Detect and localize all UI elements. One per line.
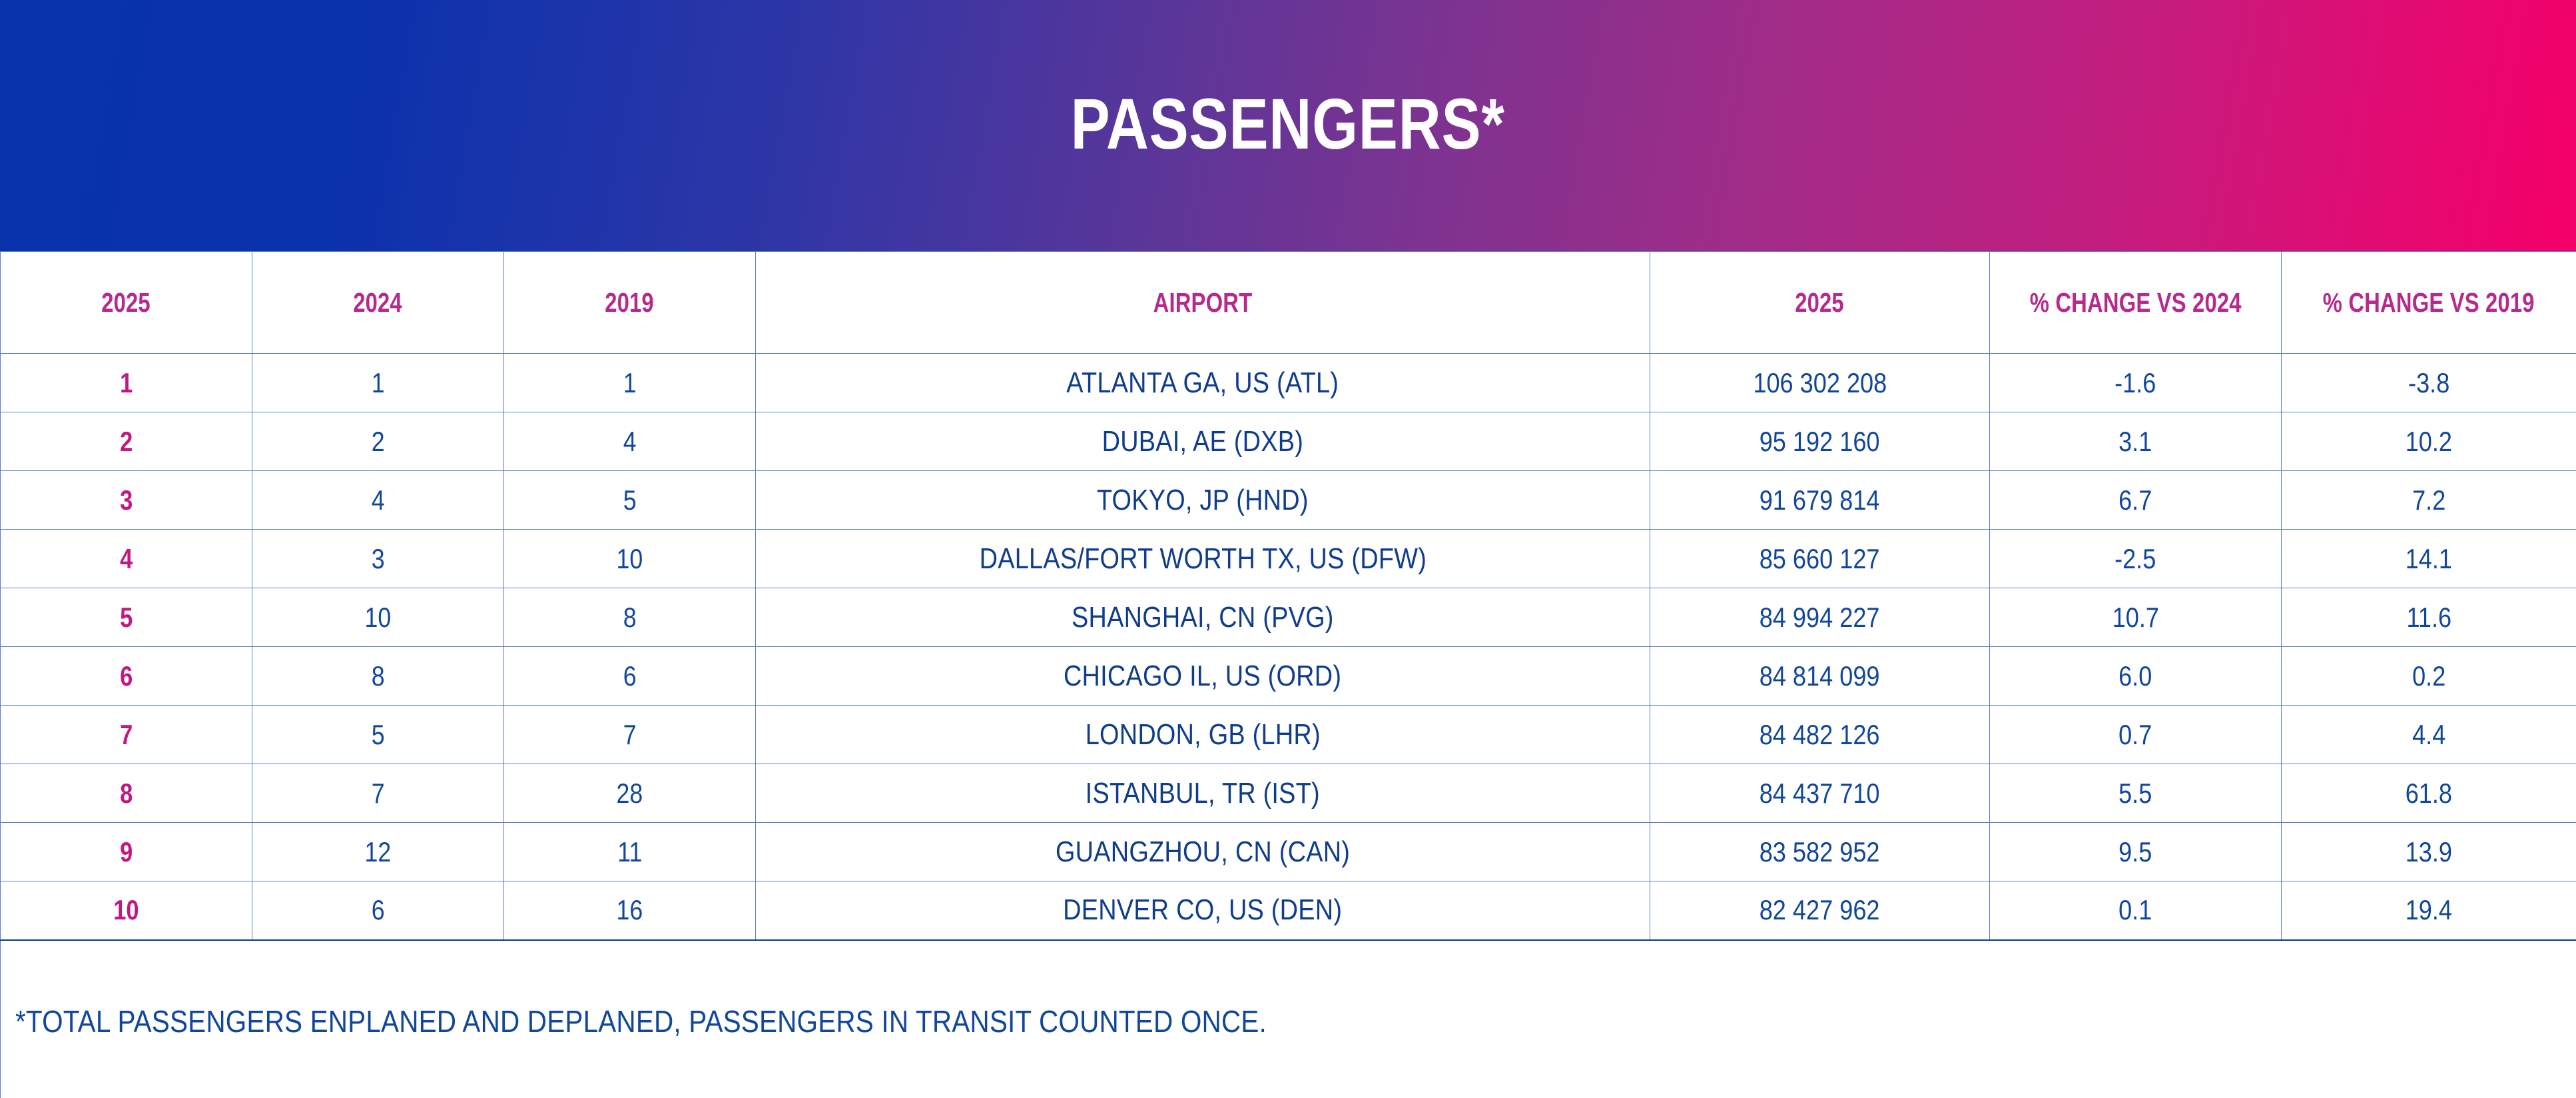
cell-rank-2019: 5	[504, 471, 756, 530]
cell-airport: LONDON, GB (LHR)	[756, 706, 1650, 764]
cell-rank-2025: 6	[1, 647, 252, 706]
cell-airport: ATLANTA GA, US (ATL)	[756, 354, 1650, 412]
footnote-cell: *TOTAL PASSENGERS ENPLANED AND DEPLANED,…	[1, 940, 2576, 1098]
cell-passengers: 84 814 099	[1650, 647, 1990, 706]
footnote-text: *TOTAL PASSENGERS ENPLANED AND DEPLANED,…	[15, 1003, 1267, 1039]
table-row: 3 4 5 TOKYO, JP (HND) 91 679 814 6.7 7.2	[1, 471, 2576, 530]
cell-airport: DUBAI, AE (DXB)	[756, 412, 1650, 471]
cell-airport: DENVER CO, US (DEN)	[756, 881, 1650, 940]
table-row: 2 2 4 DUBAI, AE (DXB) 95 192 160 3.1 10.…	[1, 412, 2576, 471]
cell-change-2024: 6.0	[1990, 647, 2282, 706]
cell-passengers: 95 192 160	[1650, 412, 1990, 471]
page-root: PASSENGERS* 2025 2024 2019 AIRPORT 2025 …	[0, 0, 2576, 1098]
cell-rank-2019: 6	[504, 647, 756, 706]
cell-change-2019: 19.4	[2282, 881, 2576, 940]
cell-airport: DALLAS/FORT WORTH TX, US (DFW)	[756, 530, 1650, 588]
cell-rank-2024: 10	[252, 588, 504, 647]
cell-rank-2019: 4	[504, 412, 756, 471]
table-header: 2025 2024 2019 AIRPORT 2025 % CHANGE VS …	[1, 252, 2576, 354]
table-row: 4 3 10 DALLAS/FORT WORTH TX, US (DFW) 85…	[1, 530, 2576, 588]
cell-passengers: 91 679 814	[1650, 471, 1990, 530]
column-header-passengers-2025: 2025	[1650, 252, 1990, 354]
cell-rank-2024: 5	[252, 706, 504, 764]
cell-rank-2019: 16	[504, 881, 756, 940]
cell-airport: ISTANBUL, TR (IST)	[756, 764, 1650, 823]
cell-passengers: 84 994 227	[1650, 588, 1990, 647]
cell-airport: SHANGHAI, CN (PVG)	[756, 588, 1650, 647]
column-header-rank-2025: 2025	[1, 252, 252, 354]
cell-rank-2025: 3	[1, 471, 252, 530]
cell-change-2019: -3.8	[2282, 354, 2576, 412]
table-row: 8 7 28 ISTANBUL, TR (IST) 84 437 710 5.5…	[1, 764, 2576, 823]
cell-rank-2025: 10	[1, 881, 252, 940]
page-title: PASSENGERS*	[1071, 88, 1505, 164]
cell-airport: TOKYO, JP (HND)	[756, 471, 1650, 530]
cell-rank-2019: 11	[504, 823, 756, 881]
cell-passengers: 106 302 208	[1650, 354, 1990, 412]
airport-ranking-table: 2025 2024 2019 AIRPORT 2025 % CHANGE VS …	[0, 251, 2576, 1098]
cell-passengers: 82 427 962	[1650, 881, 1990, 940]
cell-change-2024: 3.1	[1990, 412, 2282, 471]
cell-rank-2025: 7	[1, 706, 252, 764]
table-row: 7 5 7 LONDON, GB (LHR) 84 482 126 0.7 4.…	[1, 706, 2576, 764]
cell-airport: CHICAGO IL, US (ORD)	[756, 647, 1650, 706]
ranking-table-container: 2025 2024 2019 AIRPORT 2025 % CHANGE VS …	[0, 251, 2576, 1098]
cell-change-2019: 14.1	[2282, 530, 2576, 588]
cell-rank-2024: 6	[252, 881, 504, 940]
column-header-airport: AIRPORT	[756, 252, 1650, 354]
cell-passengers: 84 482 126	[1650, 706, 1990, 764]
cell-passengers: 84 437 710	[1650, 764, 1990, 823]
cell-rank-2019: 7	[504, 706, 756, 764]
cell-rank-2024: 3	[252, 530, 504, 588]
cell-rank-2024: 2	[252, 412, 504, 471]
cell-change-2019: 10.2	[2282, 412, 2576, 471]
footnote-row: *TOTAL PASSENGERS ENPLANED AND DEPLANED,…	[1, 940, 2576, 1098]
cell-change-2024: -2.5	[1990, 530, 2282, 588]
cell-change-2019: 0.2	[2282, 647, 2576, 706]
cell-rank-2019: 1	[504, 354, 756, 412]
cell-change-2024: 0.7	[1990, 706, 2282, 764]
cell-rank-2019: 10	[504, 530, 756, 588]
cell-passengers: 85 660 127	[1650, 530, 1990, 588]
cell-rank-2025: 2	[1, 412, 252, 471]
header-row: 2025 2024 2019 AIRPORT 2025 % CHANGE VS …	[1, 252, 2576, 354]
cell-rank-2019: 28	[504, 764, 756, 823]
cell-change-2019: 13.9	[2282, 823, 2576, 881]
cell-rank-2025: 1	[1, 354, 252, 412]
cell-change-2024: 0.1	[1990, 881, 2282, 940]
cell-passengers: 83 582 952	[1650, 823, 1990, 881]
cell-rank-2025: 8	[1, 764, 252, 823]
table-body: 1 1 1 ATLANTA GA, US (ATL) 106 302 208 -…	[1, 354, 2576, 1098]
cell-change-2024: 10.7	[1990, 588, 2282, 647]
table-row: 10 6 16 DENVER CO, US (DEN) 82 427 962 0…	[1, 881, 2576, 940]
cell-change-2024: 5.5	[1990, 764, 2282, 823]
cell-rank-2024: 4	[252, 471, 504, 530]
cell-rank-2024: 8	[252, 647, 504, 706]
column-header-rank-2024: 2024	[252, 252, 504, 354]
cell-rank-2025: 4	[1, 530, 252, 588]
cell-change-2019: 61.8	[2282, 764, 2576, 823]
column-header-change-vs-2024: % CHANGE VS 2024	[1990, 252, 2282, 354]
table-row: 1 1 1 ATLANTA GA, US (ATL) 106 302 208 -…	[1, 354, 2576, 412]
cell-rank-2025: 5	[1, 588, 252, 647]
table-row: 9 12 11 GUANGZHOU, CN (CAN) 83 582 952 9…	[1, 823, 2576, 881]
cell-change-2019: 11.6	[2282, 588, 2576, 647]
column-header-rank-2019: 2019	[504, 252, 756, 354]
cell-change-2024: 9.5	[1990, 823, 2282, 881]
table-row: 6 8 6 CHICAGO IL, US (ORD) 84 814 099 6.…	[1, 647, 2576, 706]
cell-change-2024: 6.7	[1990, 471, 2282, 530]
cell-rank-2024: 7	[252, 764, 504, 823]
cell-rank-2024: 1	[252, 354, 504, 412]
title-banner: PASSENGERS*	[0, 0, 2576, 251]
cell-rank-2024: 12	[252, 823, 504, 881]
cell-rank-2025: 9	[1, 823, 252, 881]
table-row: 5 10 8 SHANGHAI, CN (PVG) 84 994 227 10.…	[1, 588, 2576, 647]
cell-change-2024: -1.6	[1990, 354, 2282, 412]
cell-airport: GUANGZHOU, CN (CAN)	[756, 823, 1650, 881]
cell-change-2019: 4.4	[2282, 706, 2576, 764]
cell-rank-2019: 8	[504, 588, 756, 647]
column-header-change-vs-2019: % CHANGE VS 2019	[2282, 252, 2576, 354]
cell-change-2019: 7.2	[2282, 471, 2576, 530]
